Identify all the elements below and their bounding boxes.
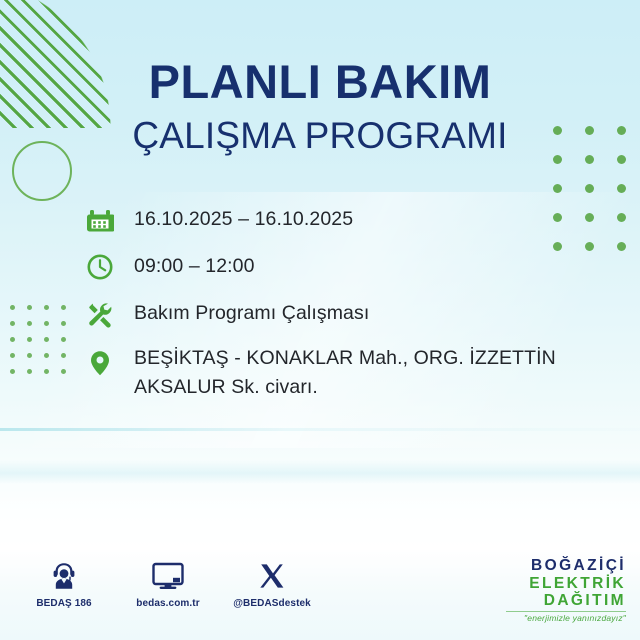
clock-icon bbox=[86, 250, 118, 284]
decorative-dot bbox=[553, 184, 562, 193]
tools-icon bbox=[86, 297, 118, 331]
poster-footer: BEDAŞ 186 bedas.com.tr bbox=[0, 548, 640, 640]
decorative-dot bbox=[585, 184, 594, 193]
decorative-dot bbox=[61, 337, 66, 342]
maintenance-details-list: 16.10.2025 – 16.10.2025 09:00 – 12:00 bbox=[86, 203, 586, 415]
decorative-dot bbox=[44, 337, 49, 342]
contact-item-call-center[interactable]: BEDAŞ 186 bbox=[26, 556, 102, 609]
brand-line-elektrik: ELEKTRİK bbox=[506, 576, 626, 592]
decorative-dot bbox=[27, 321, 32, 326]
detail-row-time: 09:00 – 12:00 bbox=[86, 250, 586, 284]
decorative-dot bbox=[617, 155, 626, 164]
decorative-dot bbox=[27, 353, 32, 358]
decorative-dot bbox=[61, 321, 66, 326]
location-pin-icon bbox=[86, 344, 118, 380]
page-title-main: PLANLI BAKIM bbox=[0, 58, 640, 105]
contact-label-social: @BEDASdestek bbox=[233, 598, 311, 609]
detail-text-address: BEŞİKTAŞ - KONAKLAR Mah., ORG. İZZETTİN … bbox=[118, 344, 586, 402]
contact-label-website: bedas.com.tr bbox=[136, 598, 199, 609]
decorative-dot bbox=[61, 305, 66, 310]
page-title-sub: ÇALIŞMA PROGRAMI bbox=[0, 117, 640, 154]
decorative-dot bbox=[10, 369, 15, 374]
brand-line-dagitim: DAĞITIM bbox=[506, 593, 626, 609]
decorative-dot bbox=[10, 353, 15, 358]
calendar-icon bbox=[86, 203, 118, 237]
decorative-dot bbox=[10, 337, 15, 342]
headset-support-icon bbox=[49, 556, 79, 592]
brand-line-bogazici: BOĞAZİÇİ bbox=[506, 558, 626, 574]
detail-text-time: 09:00 – 12:00 bbox=[118, 250, 255, 281]
detail-row-date: 16.10.2025 – 16.10.2025 bbox=[86, 203, 586, 237]
poster-header: PLANLI BAKIM ÇALIŞMA PROGRAMI bbox=[0, 58, 640, 154]
contact-item-website[interactable]: bedas.com.tr bbox=[130, 556, 206, 609]
decorative-dot bbox=[617, 242, 626, 251]
decorative-dot bbox=[617, 184, 626, 193]
detail-row-work-type: Bakım Programı Çalışması bbox=[86, 297, 586, 331]
decorative-dot bbox=[585, 155, 594, 164]
decorative-dot bbox=[44, 353, 49, 358]
decorative-dot bbox=[44, 305, 49, 310]
detail-row-address: BEŞİKTAŞ - KONAKLAR Mah., ORG. İZZETTİN … bbox=[86, 344, 586, 402]
decorative-dot bbox=[61, 369, 66, 374]
decorative-dot bbox=[585, 242, 594, 251]
decorative-dot bbox=[61, 353, 66, 358]
contact-item-social[interactable]: @BEDASdestek bbox=[234, 556, 310, 609]
bedas-logo: BOĞAZİÇİ ELEKTRİK DAĞITIM "enerjimizle y… bbox=[506, 558, 626, 622]
decorative-dot bbox=[44, 321, 49, 326]
decorative-dot bbox=[617, 213, 626, 222]
contact-label-call-center: BEDAŞ 186 bbox=[36, 598, 91, 609]
decorative-dot bbox=[10, 305, 15, 310]
decorative-dot bbox=[10, 321, 15, 326]
decorative-dot bbox=[44, 369, 49, 374]
planned-maintenance-poster: PLANLI BAKIM ÇALIŞMA PROGRAMI bbox=[0, 0, 640, 640]
detail-text-date: 16.10.2025 – 16.10.2025 bbox=[118, 203, 353, 234]
decorative-dot bbox=[553, 155, 562, 164]
decorative-dot bbox=[27, 305, 32, 310]
dot-grid-left-decoration bbox=[10, 305, 78, 385]
decorative-dot bbox=[585, 213, 594, 222]
detail-text-work-type: Bakım Programı Çalışması bbox=[118, 297, 369, 328]
background-wave-line bbox=[0, 428, 640, 431]
x-logo-icon bbox=[257, 556, 287, 592]
monitor-icon bbox=[151, 556, 185, 592]
contact-channels: BEDAŞ 186 bedas.com.tr bbox=[26, 556, 310, 609]
brand-divider bbox=[506, 611, 626, 612]
decorative-dot bbox=[27, 337, 32, 342]
decorative-dot bbox=[27, 369, 32, 374]
background-wave-band bbox=[0, 460, 640, 484]
brand-tagline: "enerjimizle yanınızdayız" bbox=[506, 614, 626, 623]
